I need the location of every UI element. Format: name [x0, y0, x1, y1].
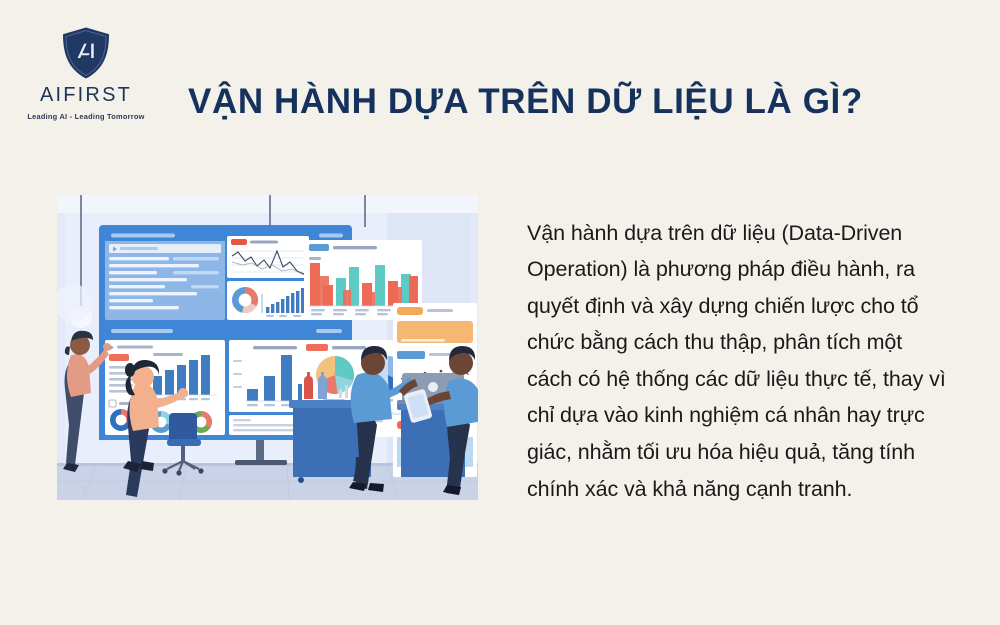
- header: AIFIRST Leading AI - Leading Tomorrow VẬ…: [0, 0, 1000, 150]
- slide-canvas: AIFIRST Leading AI - Leading Tomorrow VẬ…: [0, 0, 1000, 625]
- top-left-report-panel: [105, 230, 225, 320]
- illustration-svg: [57, 195, 478, 500]
- logo-tagline: Leading AI - Leading Tomorrow: [27, 112, 144, 121]
- kpi-badge-blue: [309, 244, 329, 251]
- page-title: VẬN HÀNH DỰA TRÊN DỮ LIỆU LÀ GÌ?: [188, 80, 888, 124]
- donut-and-bars-card: [227, 281, 309, 320]
- side-card-blue-tag: [397, 351, 425, 359]
- line-chart-trend-card: [227, 236, 309, 278]
- side-card-orange-small: [397, 307, 423, 315]
- kpi-badge-red: [231, 239, 247, 245]
- body-paragraph: Vận hành dựa trên dữ liệu (Data-Driven O…: [527, 215, 947, 508]
- kpi-badge-coral: [109, 354, 129, 361]
- illustration-data-dashboard-scene: [57, 195, 478, 500]
- bottom-left-analytics-panel: [105, 340, 225, 435]
- shield-ai-monogram-icon: [60, 26, 112, 80]
- logo-wordmark: AIFIRST: [40, 85, 132, 105]
- brand-logo: AIFIRST Leading AI - Leading Tomorrow: [24, 26, 148, 130]
- donut-chart-share: [232, 287, 258, 313]
